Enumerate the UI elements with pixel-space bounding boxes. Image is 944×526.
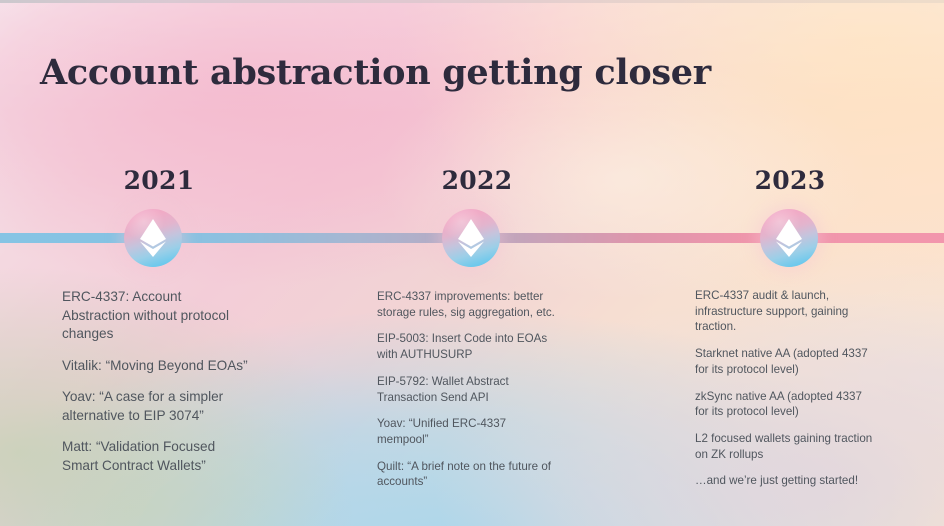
entry-item: L2 focused wallets gaining traction on Z…: [695, 431, 877, 462]
entry-item: Vitalik: “Moving Beyond EOAs”: [62, 357, 250, 376]
timeline-column-2023: 2023 ERC-4337 audit & launch, infrastruc…: [636, 0, 944, 526]
timeline-marker-2021[interactable]: [124, 209, 182, 267]
entry-item: Yoav: “Unified ERC-4337 mempool”: [377, 416, 557, 447]
ethereum-logo-icon: [138, 218, 168, 258]
entry-item: ERC-4337 audit & launch, infrastructure …: [695, 288, 877, 335]
entry-item: EIP-5792: Wallet Abstract Transaction Se…: [377, 374, 557, 405]
entry-item: Starknet native AA (adopted 4337 for its…: [695, 346, 877, 377]
entry-item: Quilt: “A brief note on the future of ac…: [377, 459, 557, 490]
entry-item: Yoav: “A case for a simpler alternative …: [62, 388, 250, 425]
entry-item: ERC-4337 improvements: better storage ru…: [377, 289, 557, 320]
ethereum-logo-icon: [456, 218, 486, 258]
entry-item: Matt: “Validation Focused Smart Contract…: [62, 438, 250, 475]
year-label-2023: 2023: [636, 166, 944, 196]
entry-list-2021: ERC-4337: Account Abstraction without pr…: [62, 288, 250, 488]
entry-item: zkSync native AA (adopted 4337 for its p…: [695, 389, 877, 420]
entry-item: …and we’re just getting started!: [695, 473, 877, 489]
timeline-column-2022: 2022 ERC-4337 improvements: better stora…: [318, 0, 636, 526]
ethereum-logo-icon: [774, 218, 804, 258]
timeline-column-2021: 2021 ERC-4337: Account Abstraction witho…: [0, 0, 318, 526]
slide-canvas: Account abstraction getting closer 2021 …: [0, 0, 944, 526]
entry-item: EIP-5003: Insert Code into EOAs with AUT…: [377, 331, 557, 362]
timeline-marker-2023[interactable]: [760, 209, 818, 267]
year-label-2022: 2022: [318, 166, 648, 196]
entry-item: ERC-4337: Account Abstraction without pr…: [62, 288, 250, 344]
timeline-marker-2022[interactable]: [442, 209, 500, 267]
entry-list-2022: ERC-4337 improvements: better storage ru…: [377, 289, 557, 501]
entry-list-2023: ERC-4337 audit & launch, infrastructure …: [695, 288, 877, 500]
